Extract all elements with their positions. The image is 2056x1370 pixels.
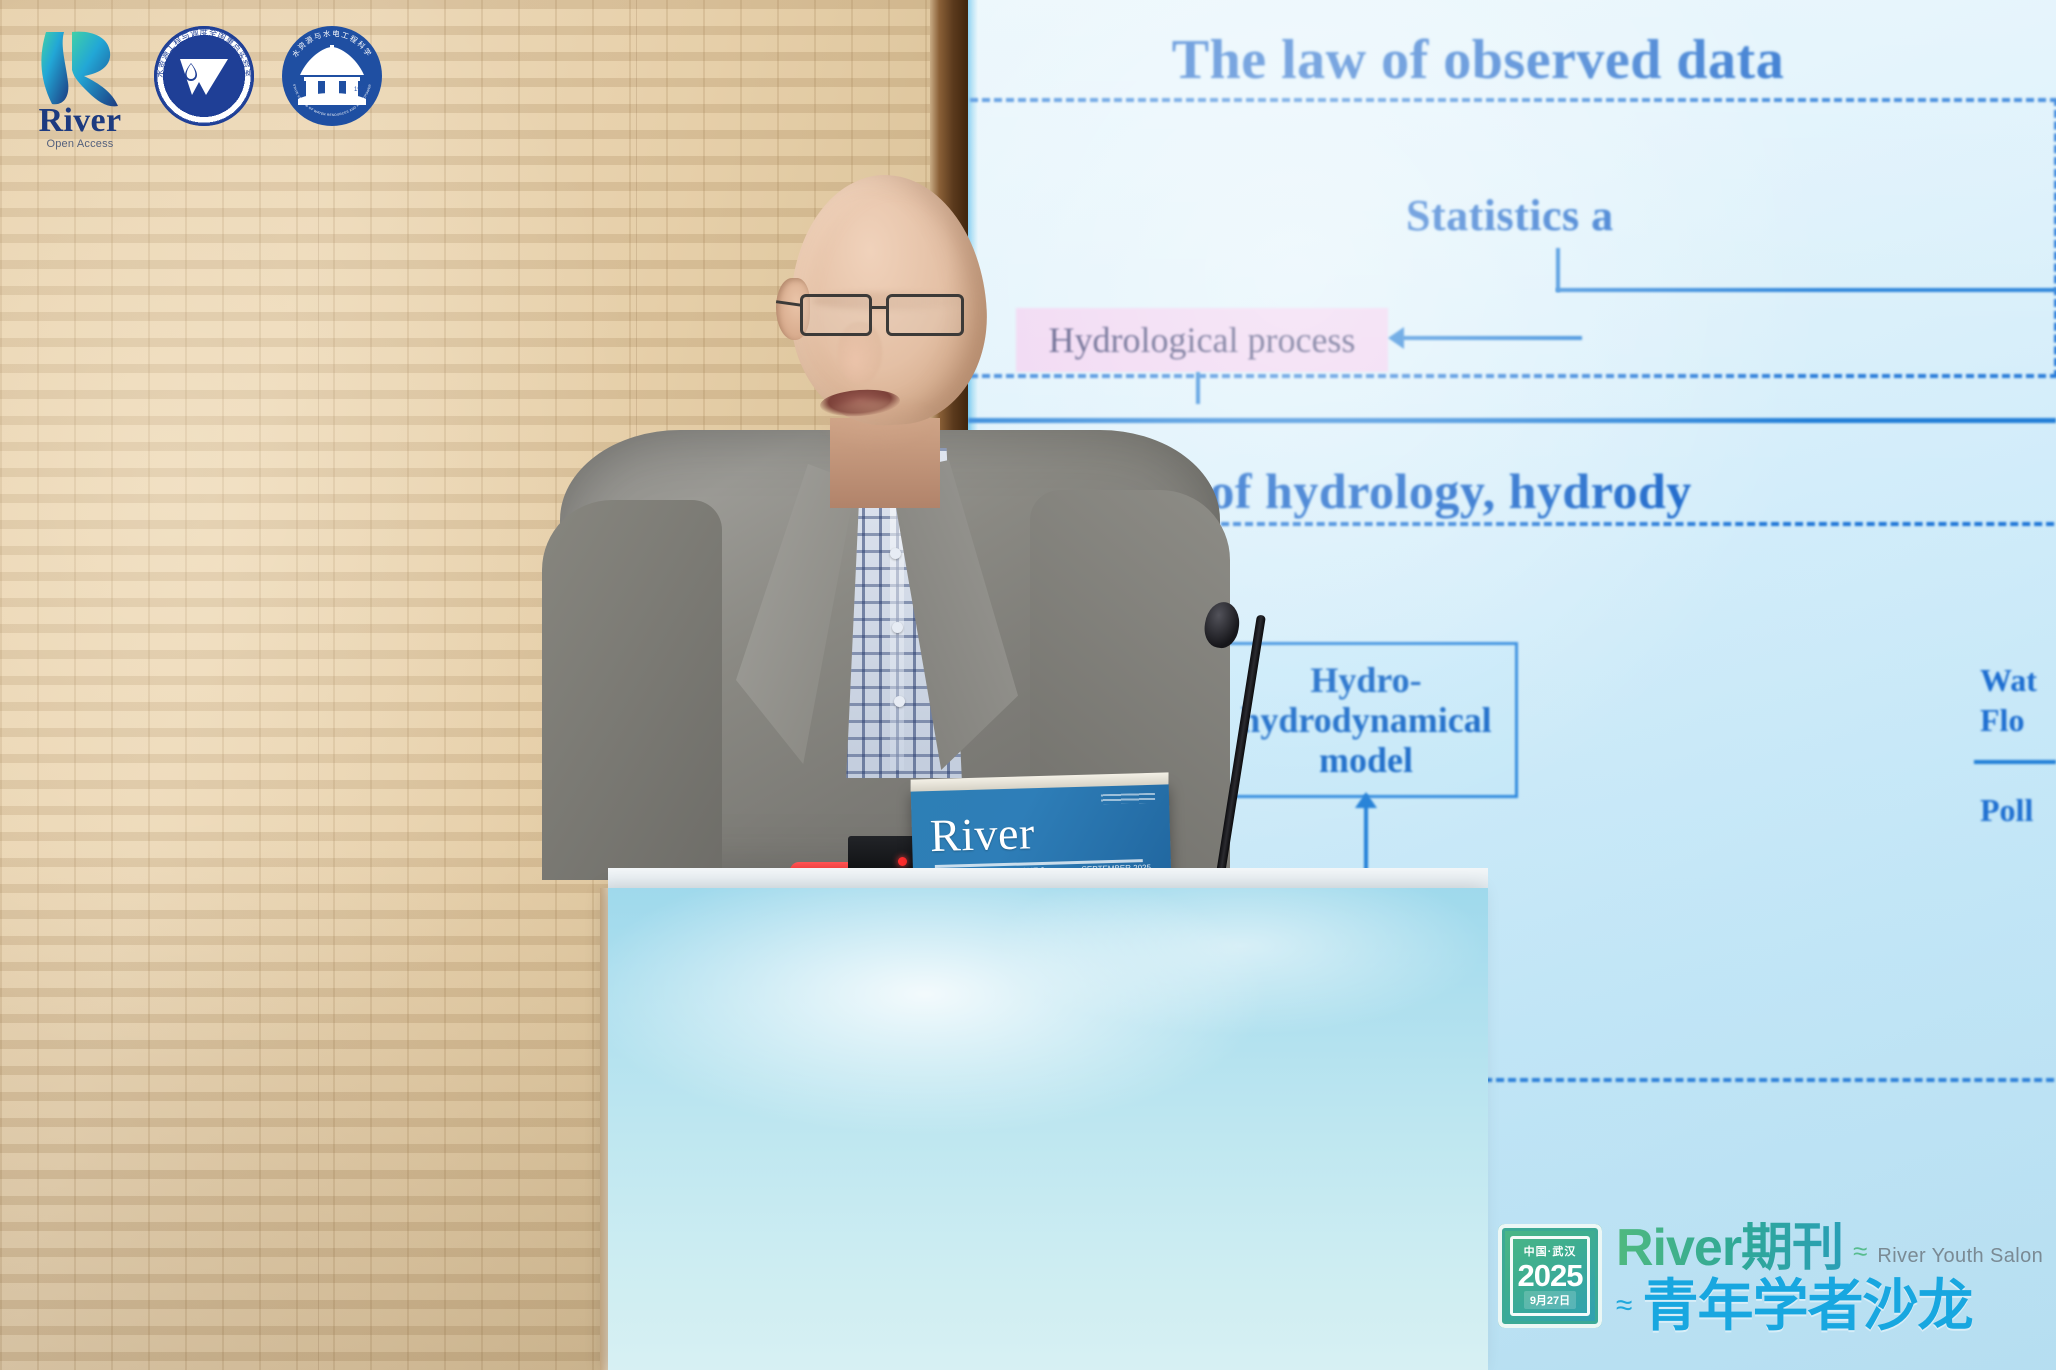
event-stamp-city: 中国·武汉 — [1524, 1243, 1577, 1259]
wave-icon: ≈ — [1853, 1238, 1867, 1264]
event-subtitle-cn: 青年学者沙龙 — [1642, 1278, 1972, 1334]
slide-connector-v — [1556, 248, 1560, 292]
slide-output-water: Wat — [1980, 660, 2037, 702]
slide-connector-h — [1556, 288, 2056, 292]
event-badge-line-1: River期刊 ≈ River Youth Salon — [1616, 1222, 2056, 1274]
slide-statistics-label: Statistics a — [1406, 190, 1614, 241]
w-droplet-icon — [178, 55, 230, 97]
slide-arrow-head-up — [1355, 792, 1377, 808]
speaker-chin — [812, 400, 942, 452]
wave-icon: ≈ — [1616, 1291, 1632, 1321]
slide-output-pollution: Poll — [1980, 790, 2033, 832]
svg-text:1952: 1952 — [354, 87, 368, 93]
eyeglass-bridge — [872, 306, 888, 309]
slide-heading-observed-data: The law of observed data — [978, 28, 1978, 92]
presentation-photo: The law of observed data Statistics a Hy… — [0, 0, 2056, 1370]
event-title-cn: River期刊 — [1616, 1222, 1843, 1274]
event-badge: 中国·武汉 2025 9月27日 River期刊 ≈ River Youth S… — [1498, 1218, 2056, 1358]
event-stamp-date: 9月27日 — [1524, 1291, 1576, 1309]
slide-arrow-head-left — [1388, 327, 1404, 349]
event-stamp-year: 2025 — [1518, 1260, 1583, 1291]
river-logo: River Open Access — [30, 26, 126, 150]
event-stamp: 中国·武汉 2025 9月27日 — [1498, 1224, 1602, 1328]
slide-hydrological-process-box: Hydrological process — [1016, 308, 1388, 372]
event-title-en: River Youth Salon — [1877, 1245, 2043, 1268]
logo-bar: River Open Access 水资源工程与调度全国重点实验室 STATE … — [30, 26, 382, 150]
podium-front-panel: River Open Access — [608, 888, 1488, 1370]
shirt-button — [894, 696, 905, 707]
journal-corner-marks — [1101, 793, 1155, 805]
recording-led-indicator — [898, 857, 907, 866]
university-gate-icon: 1952 — [294, 45, 370, 107]
eyeglass-lens-left — [800, 294, 872, 336]
event-stamp-inner: 中国·武汉 2025 9月27日 — [1510, 1236, 1590, 1316]
slide-divider — [968, 418, 2056, 423]
shirt-button — [890, 548, 901, 559]
wuhan-university-water-resources-seal: 水资源与水电工程科学 STATE KEY LAB OF WATER RESOUR… — [282, 26, 382, 126]
state-key-laboratory-seal: 水资源工程与调度全国重点实验室 STATE KEY LABORATORY OF … — [154, 26, 254, 126]
river-logo-subtitle: Open Access — [28, 138, 132, 150]
shirt-button — [892, 622, 903, 633]
event-badge-text: River期刊 ≈ River Youth Salon ≈ 青年学者沙龙 — [1616, 1218, 2056, 1334]
journal-cover-title: River — [929, 806, 1035, 862]
eyeglass-lens-right — [886, 294, 964, 336]
slide-output-divider — [1974, 760, 2056, 764]
slide-connector-v — [1196, 372, 1200, 404]
jacket-left-arm — [542, 500, 722, 880]
slide-output-flow: Flo — [1980, 700, 2024, 742]
event-badge-line-2: ≈ 青年学者沙龙 — [1616, 1278, 2056, 1334]
river-logo-title: River — [28, 102, 132, 140]
slide-model-inflow-line — [1364, 798, 1368, 876]
slide-model-box: Hydro- hydrodynamical model — [1214, 642, 1518, 798]
slide-arrow-line — [1402, 336, 1582, 340]
eyeglasses — [790, 288, 1000, 342]
river-r-logo-icon — [30, 26, 126, 110]
